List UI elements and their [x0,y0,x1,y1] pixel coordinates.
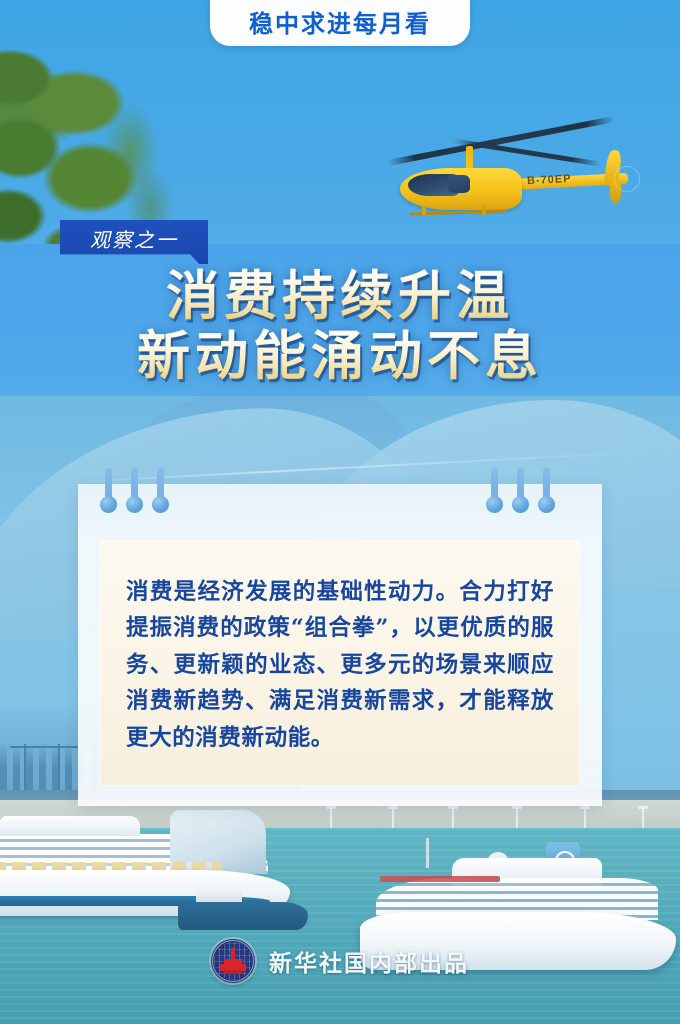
ship-top-deck [0,816,140,836]
headline-line-1: 消费持续升温 [0,266,680,326]
card-pin-icon [486,468,502,520]
ship-mast [426,838,429,868]
helicopter-side-window [448,175,470,193]
quote-card: 消费是经济发展的基础性动力。合力打好提振消费的政策“组合拳”，以更优质的服务、更… [78,484,602,806]
headline-block: 消费持续升温 新动能涌动不息 [0,266,680,387]
footer-credit-row: 新华社国内部出品 [0,930,680,992]
card-pin-icon [152,468,168,520]
helicopter-image: B-70EP [392,112,644,234]
helicopter-skid-strut-rear [482,206,486,215]
port-crane-icon [58,744,60,790]
card-pin-icon [126,468,142,520]
helicopter-skid-strut-front [422,206,426,215]
footer-credit-text: 新华社国内部出品 [269,944,469,978]
port-crane-icon [24,744,26,790]
quote-inner-panel: 消费是经济发展的基础性动力。合力打好提振消费的政策“组合拳”，以更优质的服务、更… [100,540,580,786]
xinhua-logo-icon [211,939,255,983]
headline-line-2: 新动能涌动不息 [0,326,680,386]
series-title-text: 稳中求进每月看 [249,4,431,39]
card-pin-icon [538,468,554,520]
ship-accent-stripe [380,876,500,882]
section-flag-label: 观察之一 [90,224,178,253]
poster-canvas: B-70EP [0,0,680,1024]
series-title-pill: 稳中求进每月看 [210,0,470,46]
card-pin-row [78,468,602,524]
helicopter-registration-text: B-70EP [527,173,572,187]
quote-body-text: 消费是经济发展的基础性动力。合力打好提振消费的政策“组合拳”，以更优质的服务、更… [126,574,554,756]
tail-rotor-icon [614,166,640,192]
card-pin-icon [512,468,528,520]
tug-boat [178,888,308,932]
card-pin-icon [100,468,116,520]
rotor-blade-secondary-icon [453,138,602,166]
tug-hull [178,902,308,930]
